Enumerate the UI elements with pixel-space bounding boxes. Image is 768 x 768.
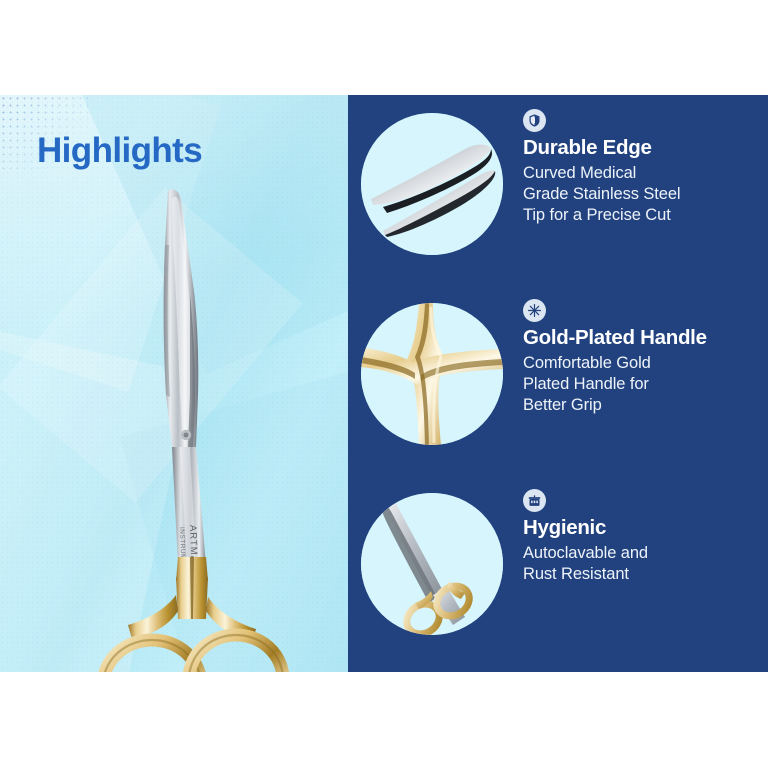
feature-block: Hygienic Autoclavable and Rust Resistant — [348, 487, 768, 647]
product-image-scissors: ARTMAN INSTRUMENTS — [0, 95, 348, 672]
feature-description-line: Plated Handle for — [523, 374, 755, 395]
feature-text: Durable Edge Curved Medical Grade Stainl… — [523, 107, 755, 226]
infographic-canvas: Highlights — [0, 0, 768, 768]
left-panel: Highlights — [0, 95, 348, 672]
shield-icon — [523, 109, 546, 132]
sparkle-icon — [523, 299, 546, 322]
feature-title: Hygienic — [523, 516, 755, 540]
feature-photo-gold-handle — [361, 303, 503, 445]
feature-title: Gold-Plated Handle — [523, 326, 755, 350]
feature-description-line: Grade Stainless Steel — [523, 184, 755, 205]
feature-description: Comfortable Gold Plated Handle for Bette… — [523, 353, 755, 416]
feature-block: Durable Edge Curved Medical Grade Stainl… — [348, 107, 768, 267]
feature-description-line: Better Grip — [523, 395, 755, 416]
feature-description-line: Tip for a Precise Cut — [523, 205, 755, 226]
feature-text: Gold-Plated Handle Comfortable Gold Plat… — [523, 297, 755, 416]
feature-description-line: Autoclavable and — [523, 543, 755, 564]
content-band: Highlights — [0, 95, 768, 672]
feature-block: Gold-Plated Handle Comfortable Gold Plat… — [348, 297, 768, 457]
feature-photo-scissors-tip — [361, 113, 503, 255]
feature-text: Hygienic Autoclavable and Rust Resistant — [523, 487, 755, 585]
feature-description-line: Comfortable Gold — [523, 353, 755, 374]
feature-description-line: Rust Resistant — [523, 564, 755, 585]
feature-title: Durable Edge — [523, 136, 755, 160]
feature-description-line: Curved Medical — [523, 163, 755, 184]
autoclave-icon — [523, 489, 546, 512]
features-panel: Durable Edge Curved Medical Grade Stainl… — [348, 95, 768, 672]
feature-description: Autoclavable and Rust Resistant — [523, 543, 755, 585]
feature-description: Curved Medical Grade Stainless Steel Tip… — [523, 163, 755, 226]
feature-photo-full-scissors — [361, 493, 503, 635]
